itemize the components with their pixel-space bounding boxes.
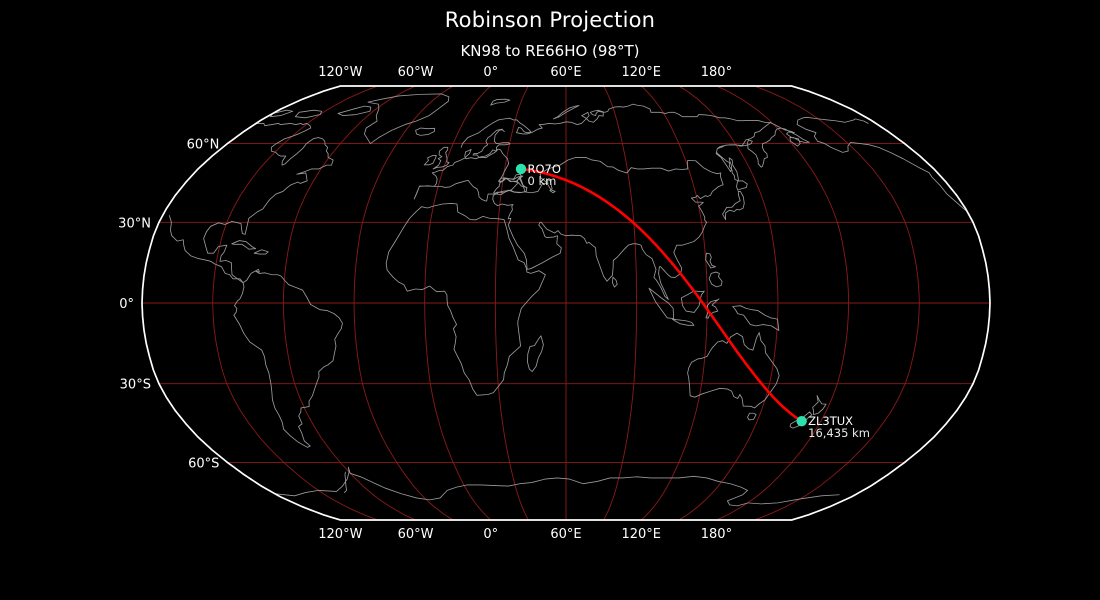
coastline-segment xyxy=(364,94,448,144)
coastline-segment xyxy=(254,250,268,254)
lon-tick-top: 120°E xyxy=(621,65,661,80)
coastline-segment xyxy=(737,181,748,190)
coastline-segment xyxy=(528,336,544,372)
marker-dot[interactable] xyxy=(796,416,806,426)
lon-tick-bottom: 0° xyxy=(483,527,498,542)
lon-tick-top: 60°E xyxy=(550,65,581,80)
marker-distance-label: 0 km xyxy=(528,174,557,188)
axis-tick-labels: 60°W60°W0°0°60°E60°E120°E120°E180°180°12… xyxy=(118,65,732,542)
coastline-segment xyxy=(414,129,723,299)
coastline-segment xyxy=(386,203,545,395)
lon-tick-bottom: 60°E xyxy=(550,527,581,542)
coastline-segment xyxy=(424,156,436,165)
marker-ZL3TUX[interactable]: ZL3TUX16,435 km xyxy=(796,414,869,440)
endpoint-markers: RO7O0 kmZL3TUX16,435 km xyxy=(516,162,870,440)
coastline-segment xyxy=(813,396,826,415)
map-figure: Robinson Projection KN98 to RE66HO (98°T… xyxy=(0,0,1100,600)
lon-tick-bottom: 60°W xyxy=(398,527,434,542)
coastline-segment xyxy=(416,128,435,135)
coastline-segment xyxy=(232,241,256,250)
marker-dot[interactable] xyxy=(516,164,526,174)
graticule-layer xyxy=(142,86,990,520)
coastline-segment xyxy=(491,99,510,105)
lon-tick-bottom: 180° xyxy=(701,527,732,542)
lat-tick: 0° xyxy=(119,297,134,312)
coastline-segment xyxy=(733,306,779,331)
coastline-segment xyxy=(723,191,745,219)
coastline-segment xyxy=(797,117,965,210)
coastline-segment xyxy=(338,106,371,116)
coastline-segment xyxy=(706,253,716,268)
robinson-map-svg: RO7O0 kmZL3TUX16,435 km 60°W60°W0°0°60°E… xyxy=(0,0,1100,600)
coastline-segment xyxy=(688,333,780,408)
lat-tick: 30°S xyxy=(120,378,151,393)
coastline-segment xyxy=(709,272,722,287)
lat-tick: 30°N xyxy=(118,216,151,231)
coastline-segment xyxy=(234,269,343,447)
coastline-segment xyxy=(672,319,694,325)
coastline-layer xyxy=(169,94,965,506)
marker-distance-label: 16,435 km xyxy=(808,426,870,440)
lon-tick-top: 60°W xyxy=(398,65,434,80)
lat-tick: 60°N xyxy=(187,138,220,153)
lon-tick-top: 0° xyxy=(483,65,498,80)
coastline-segment xyxy=(613,277,618,287)
map-canvas: RO7O0 kmZL3TUX16,435 km 60°W60°W0°0°60°E… xyxy=(0,0,1100,600)
coastline-segment xyxy=(461,104,809,181)
lon-tick-bottom: 120°E xyxy=(621,527,661,542)
lon-tick-bottom: 120°W xyxy=(318,527,362,542)
lon-tick-top: 120°W xyxy=(318,65,362,80)
coastline-segment xyxy=(748,413,757,420)
lon-tick-top: 180° xyxy=(701,65,732,80)
lat-tick: 60°S xyxy=(188,456,219,471)
